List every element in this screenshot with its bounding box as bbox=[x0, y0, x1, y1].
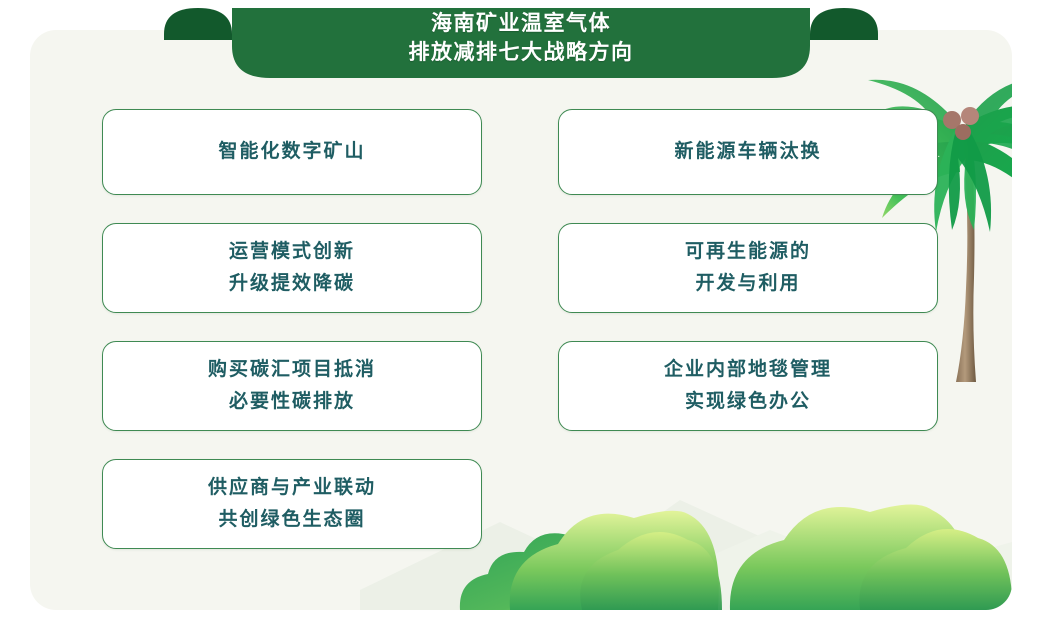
strategy-card-supplier-industry-linkage[interactable]: 供应商与产业联动 共创绿色生态圈 bbox=[102, 459, 482, 549]
strategy-card-grid: 智能化数字矿山 新能源车辆汰换 运营模式创新 升级提效降碳 可再生能源的 开发与… bbox=[102, 109, 938, 577]
card-line: 供应商与产业联动 bbox=[208, 476, 376, 500]
banner-tail-right bbox=[810, 8, 878, 40]
strategy-card-operating-model-innovation[interactable]: 运营模式创新 升级提效降碳 bbox=[102, 223, 482, 313]
card-row-3: 购买碳汇项目抵消 必要性碳排放 企业内部地毯管理 实现绿色办公 bbox=[102, 341, 938, 431]
poster-root: 智能化数字矿山 新能源车辆汰换 运营模式创新 升级提效降碳 可再生能源的 开发与… bbox=[0, 0, 1042, 626]
card-line: 新能源车辆汰换 bbox=[674, 140, 821, 164]
card-line: 共创绿色生态圈 bbox=[218, 508, 365, 532]
poster-panel: 智能化数字矿山 新能源车辆汰换 运营模式创新 升级提效降碳 可再生能源的 开发与… bbox=[30, 30, 1012, 610]
card-line: 必要性碳排放 bbox=[229, 390, 355, 414]
strategy-card-carbon-sink-offset-purchase[interactable]: 购买碳汇项目抵消 必要性碳排放 bbox=[102, 341, 482, 431]
banner-shape bbox=[160, 0, 882, 92]
strategy-card-renewable-energy-development[interactable]: 可再生能源的 开发与利用 bbox=[558, 223, 938, 313]
strategy-card-internal-carbon-management[interactable]: 企业内部地毯管理 实现绿色办公 bbox=[558, 341, 938, 431]
card-line: 实现绿色办公 bbox=[685, 390, 811, 414]
card-line: 升级提效降碳 bbox=[229, 272, 355, 296]
title-banner: 海南矿业温室气体 排放减排七大战略方向 bbox=[160, 0, 882, 92]
strategy-card-smart-digital-mine[interactable]: 智能化数字矿山 bbox=[102, 109, 482, 195]
banner-tail-left bbox=[164, 8, 232, 40]
banner-body bbox=[232, 8, 810, 78]
card-row-4: 供应商与产业联动 共创绿色生态圈 bbox=[102, 459, 938, 549]
card-row-1: 智能化数字矿山 新能源车辆汰换 bbox=[102, 109, 938, 195]
card-line: 企业内部地毯管理 bbox=[664, 358, 832, 382]
card-line: 购买碳汇项目抵消 bbox=[208, 358, 376, 382]
card-row-2: 运营模式创新 升级提效降碳 可再生能源的 开发与利用 bbox=[102, 223, 938, 313]
card-line: 开发与利用 bbox=[695, 272, 800, 296]
strategy-card-new-energy-vehicle-replacement[interactable]: 新能源车辆汰换 bbox=[558, 109, 938, 195]
card-line: 可再生能源的 bbox=[685, 240, 811, 264]
card-line: 运营模式创新 bbox=[229, 240, 355, 264]
card-line: 智能化数字矿山 bbox=[218, 140, 365, 164]
card-row-spacer bbox=[558, 459, 938, 549]
